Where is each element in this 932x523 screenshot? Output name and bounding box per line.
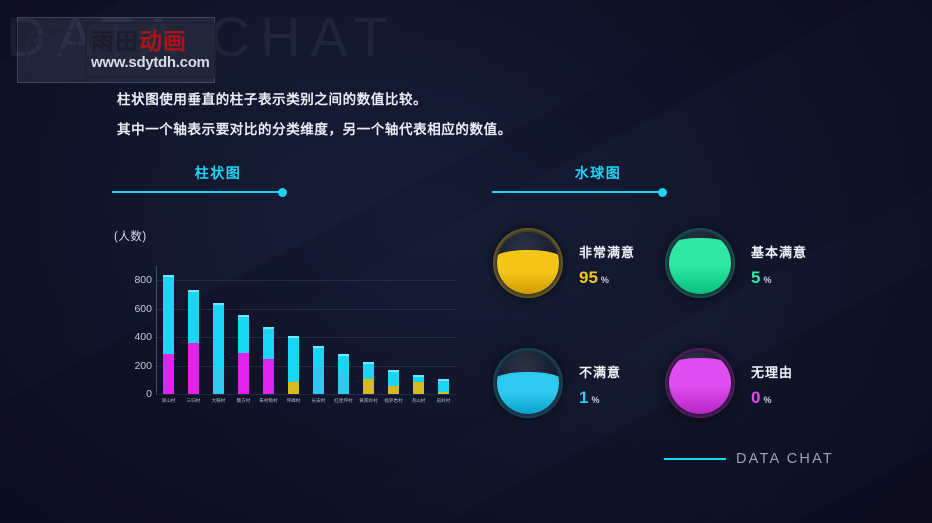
liquid-ball <box>493 348 563 418</box>
bar-chart-gridline <box>156 280 456 281</box>
section-header-liquid-chart: 水球图 <box>492 163 667 198</box>
bar-segment <box>213 303 224 368</box>
description-line-1: 柱状图使用垂直的柱子表示类别之间的数值比较。 <box>117 85 777 115</box>
watermark-brand-cn1: 雨田 <box>91 28 139 54</box>
bar-segment <box>438 392 449 394</box>
liquid-gauge[interactable]: 基本满意 5% <box>665 228 880 328</box>
bar-segment <box>388 386 399 394</box>
bar-chart-bar[interactable] <box>188 266 199 394</box>
bar-chart-y-tick: 0 <box>146 388 152 400</box>
bar-chart-x-tick: 长安村 <box>312 398 326 404</box>
bar-segment <box>163 354 174 394</box>
mouse-logo-icon <box>23 21 81 79</box>
bar-segment <box>338 354 349 371</box>
watermark-brand-cn2: 动画 <box>139 28 187 54</box>
watermark: 雨田动画 www.sdytdh.com <box>17 17 215 83</box>
bar-chart-bar[interactable] <box>263 266 274 394</box>
bar-chart-bar[interactable] <box>338 266 349 394</box>
bar-segment <box>288 336 299 382</box>
bar-chart-bar[interactable] <box>238 266 249 394</box>
bar-chart-y-tick: 400 <box>134 331 152 343</box>
footer-text: DATA CHAT <box>736 451 834 467</box>
liquid-gauge-label: 基本满意 <box>751 242 807 261</box>
bar-chart-x-tick: 三归村 <box>187 398 201 404</box>
bar-segment <box>163 275 174 354</box>
bar-chart-x-tick: 朱村畈村 <box>259 398 277 404</box>
footer-rule <box>664 458 726 460</box>
liquid-ball <box>665 228 735 298</box>
bar-chart-x-tick: 前岭村 <box>437 398 451 404</box>
bar-chart-x-tick: 福罗岩村 <box>384 398 402 404</box>
bar-chart-y-unit: (人数) <box>114 228 147 244</box>
bar-segment <box>238 353 249 394</box>
liquid-gauge-label: 无理由 <box>751 362 793 381</box>
bar-segment <box>313 346 324 365</box>
liquid-gauge[interactable]: 无理由 0% <box>665 348 880 448</box>
liquid-gauge-value: 5% <box>751 268 771 288</box>
bar-chart-x-tick: 魏方村 <box>237 398 251 404</box>
footer-brand: DATA CHAT <box>664 451 834 467</box>
bar-segment <box>413 375 424 382</box>
bar-chart-bar[interactable] <box>438 266 449 394</box>
bar-segment <box>413 382 424 394</box>
bar-chart-y-tick: 200 <box>134 360 152 372</box>
bar-chart-plot-area: 0200400600800涧山村三归村大鞍村魏方村朱村畈村坪峰村长安村红星坪村黄… <box>156 266 456 394</box>
bar-chart: (人数) 0200400600800涧山村三归村大鞍村魏方村朱村畈村坪峰村长安村… <box>110 228 465 418</box>
bar-chart-bar[interactable] <box>313 266 324 394</box>
bar-chart-y-tick: 600 <box>134 303 152 315</box>
bar-chart-bar[interactable] <box>413 266 424 394</box>
bar-chart-gridline <box>156 337 456 338</box>
bar-chart-x-tick: 涧山村 <box>162 398 176 404</box>
section-title-liquid-chart: 水球图 <box>538 163 658 183</box>
bar-segment <box>363 379 374 394</box>
section-header-bar-chart: 柱状图 <box>112 163 287 198</box>
watermark-url: www.sdytdh.com <box>91 54 210 71</box>
bar-segment <box>263 359 274 394</box>
liquid-gauge-value: 1% <box>579 388 599 408</box>
bar-segment <box>263 327 274 360</box>
description-block: 柱状图使用垂直的柱子表示类别之间的数值比较。 其中一个轴表示要对比的分类维度，另… <box>117 85 777 145</box>
bar-segment <box>288 382 299 395</box>
bar-segment <box>438 379 449 392</box>
section-rule-dot-icon <box>658 188 667 197</box>
bar-chart-bar[interactable] <box>163 266 174 394</box>
watermark-text: 雨田动画 www.sdytdh.com <box>85 22 216 78</box>
section-title-bar-chart: 柱状图 <box>158 163 278 183</box>
bar-chart-gridline <box>156 394 456 395</box>
bar-chart-gridline <box>156 309 456 310</box>
bar-segment <box>313 365 324 394</box>
bar-chart-gridline <box>156 366 456 367</box>
bar-chart-bar[interactable] <box>213 266 224 394</box>
section-rule <box>492 191 660 193</box>
section-rule-dot-icon <box>278 188 287 197</box>
bar-chart-x-tick: 大鞍村 <box>212 398 226 404</box>
liquid-gauge-value: 95% <box>579 268 609 288</box>
bar-chart-x-tick: 红星坪村 <box>334 398 352 404</box>
bar-chart-bar[interactable] <box>388 266 399 394</box>
liquid-gauge-label: 非常满意 <box>579 242 635 261</box>
bar-segment <box>188 290 199 343</box>
bar-chart-x-tick: 尧山村 <box>412 398 426 404</box>
section-rule <box>112 191 280 193</box>
bar-chart-y-axis <box>156 266 157 394</box>
liquid-gauge-label: 不满意 <box>579 362 621 381</box>
bar-chart-y-tick: 800 <box>134 274 152 286</box>
bar-segment <box>388 370 399 386</box>
liquid-ball <box>493 228 563 298</box>
bar-segment <box>338 371 349 394</box>
bar-segment <box>213 369 224 394</box>
bar-chart-bar[interactable] <box>363 266 374 394</box>
description-line-2: 其中一个轴表示要对比的分类维度，另一个轴代表相应的数值。 <box>117 115 777 145</box>
bar-segment <box>363 362 374 379</box>
bar-chart-bar[interactable] <box>288 266 299 394</box>
liquid-ball <box>665 348 735 418</box>
bar-chart-x-tick: 黄家岭村 <box>359 398 377 404</box>
dashboard-canvas: DATA CHAT 雨田动画 www.sdytdh.com 柱状图使用垂直的柱子… <box>0 0 932 523</box>
bar-segment <box>188 343 199 394</box>
bar-segment <box>238 315 249 353</box>
bar-chart-x-tick: 坪峰村 <box>287 398 301 404</box>
liquid-gauge-value: 0% <box>751 388 771 408</box>
